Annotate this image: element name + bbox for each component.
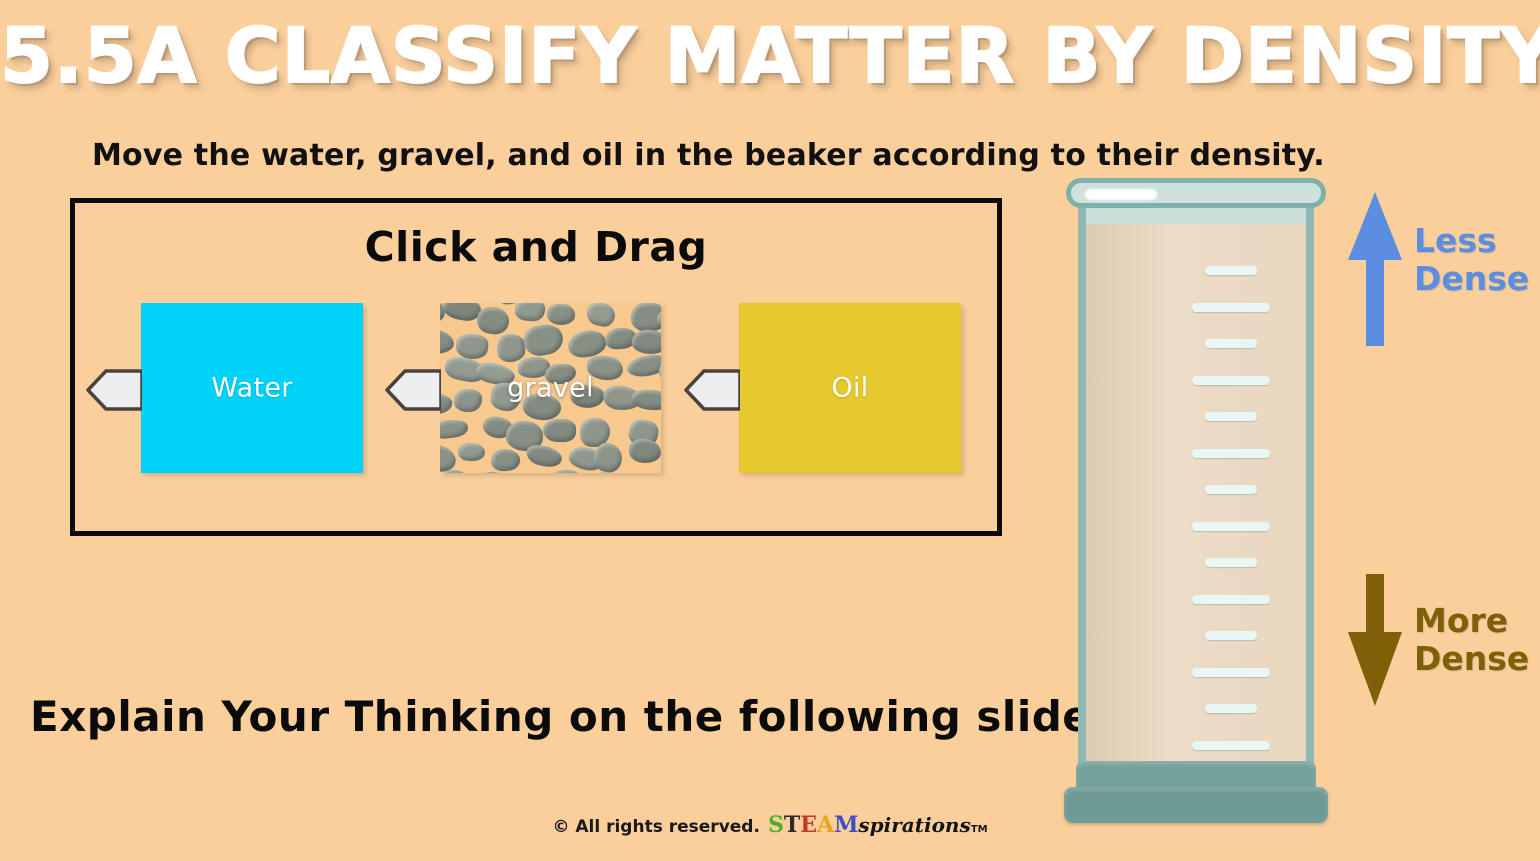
graduation-mark — [1205, 266, 1257, 275]
slide-canvas: 5.5A Classify Matter by Density Move the… — [0, 0, 1540, 861]
gravel-stone — [522, 322, 566, 359]
gravel-stone — [631, 328, 661, 355]
cylinder-base — [1064, 761, 1328, 823]
logo-trademark: TM — [971, 824, 988, 835]
gravel-stone — [440, 327, 455, 356]
drag-arrow-left-icon-oil[interactable] — [684, 364, 740, 416]
gravel-stone — [548, 468, 580, 473]
logo-letter-a: A — [817, 812, 834, 838]
graduation-mark — [1205, 339, 1257, 348]
gravel-stone — [440, 418, 469, 441]
cylinder-graduation-marks — [1062, 178, 1330, 823]
drag-arrow-left-icon-water[interactable] — [86, 364, 142, 416]
more-dense-line1: More — [1414, 602, 1529, 640]
arrow-up-icon — [1344, 188, 1406, 348]
graduation-mark — [1192, 303, 1270, 312]
graduation-mark — [1192, 522, 1270, 531]
graduation-mark — [1192, 376, 1270, 385]
logo-letter-t: T — [784, 812, 800, 838]
less-dense-label: Less Dense — [1414, 222, 1529, 298]
tile-label-gravel: gravel — [440, 373, 661, 404]
graduation-mark — [1192, 595, 1270, 604]
graduation-mark — [1205, 558, 1257, 567]
graduation-mark — [1192, 741, 1270, 750]
instruction-text: Move the water, gravel, and oil in the b… — [92, 138, 1325, 173]
logo-letter-e: E — [800, 812, 817, 838]
drag-box-heading: Click and Drag — [75, 223, 997, 271]
draggable-tile-gravel[interactable]: gravel — [440, 303, 661, 473]
explain-prompt: Explain Your Thinking on the following s… — [30, 692, 1091, 741]
gravel-stone — [546, 303, 574, 325]
cylinder-base-bottom — [1064, 787, 1328, 823]
gravel-stone — [542, 419, 576, 443]
graduation-mark — [1205, 631, 1257, 640]
tile-label-oil: Oil — [739, 373, 961, 404]
gravel-stone — [490, 448, 521, 473]
more-dense-line2: Dense — [1414, 640, 1529, 678]
tile-label-water: Water — [141, 373, 363, 404]
logo-wordmark: spirations — [858, 813, 970, 837]
copyright-text: © All rights reserved. — [552, 817, 759, 837]
less-dense-line1: Less — [1414, 222, 1529, 260]
gravel-stone — [524, 442, 563, 470]
logo-letter-m: M — [834, 812, 858, 838]
gravel-stone — [628, 437, 661, 465]
arrow-down-icon — [1344, 570, 1406, 710]
more-dense-label: More Dense — [1414, 602, 1529, 678]
graduated-cylinder — [1062, 178, 1330, 823]
less-dense-line2: Dense — [1414, 260, 1529, 298]
draggable-tile-oil[interactable]: Oil — [739, 303, 961, 473]
graduation-mark — [1192, 449, 1270, 458]
graduation-mark — [1205, 704, 1257, 713]
drag-arrow-left-icon-gravel[interactable] — [385, 364, 441, 416]
steamspirations-logo: STEAMspirationsTM — [768, 812, 988, 838]
draggable-tile-water[interactable]: Water — [141, 303, 363, 473]
gravel-stone — [585, 303, 617, 329]
logo-letter-s: S — [768, 812, 784, 838]
graduation-mark — [1205, 485, 1257, 494]
graduation-mark — [1192, 668, 1270, 677]
gravel-stone — [496, 333, 527, 363]
page-title: 5.5A Classify Matter by Density — [0, 16, 1540, 96]
graduation-mark — [1205, 412, 1257, 421]
gravel-stone — [440, 441, 458, 473]
gravel-stone — [457, 442, 485, 462]
gravel-stone — [515, 303, 547, 323]
